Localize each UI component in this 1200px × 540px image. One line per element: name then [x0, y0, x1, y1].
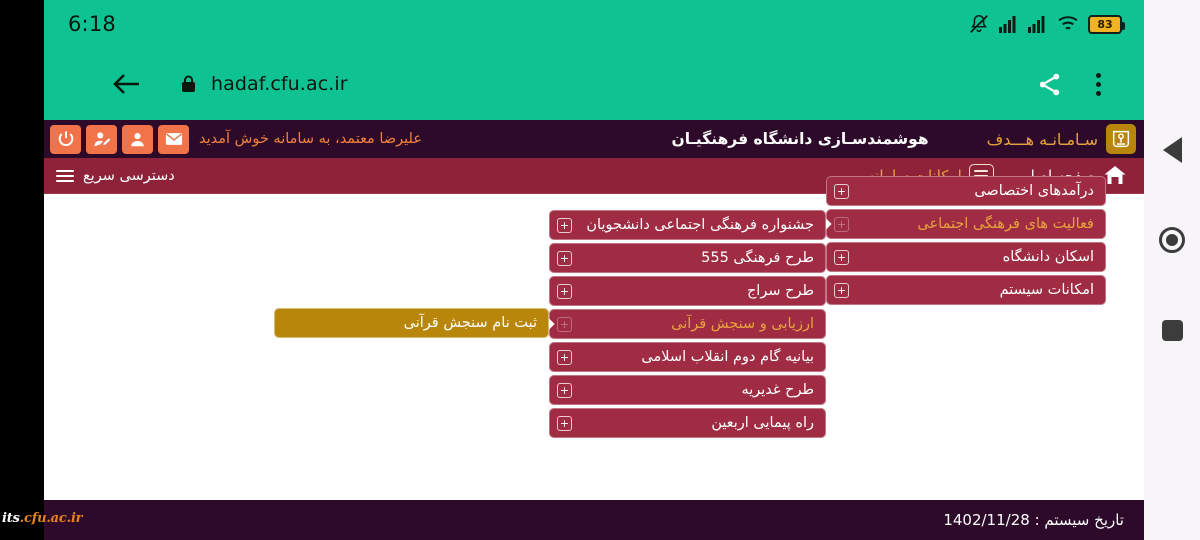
page-viewport: سـامـانـه هـــدف هوشمندسـازی دانشگاه فره…	[44, 120, 1144, 540]
battery-icon: 83	[1088, 15, 1122, 34]
menu-item[interactable]: بیانیه گام دوم انقلاب اسلامی +	[549, 342, 826, 372]
menu-item[interactable]: امکانات سیستم +	[826, 275, 1106, 305]
wifi-icon	[1057, 15, 1079, 33]
user-edit-icon[interactable]	[86, 125, 117, 154]
brand-identity: سـامـانـه هـــدف	[987, 124, 1144, 154]
expand-icon[interactable]: +	[557, 251, 572, 266]
expand-icon[interactable]: +	[557, 317, 572, 332]
share-button[interactable]	[1024, 71, 1074, 98]
menu-item[interactable]: ارزیابی و سنجش قرآنی +	[549, 309, 826, 339]
status-bar: 6:18	[44, 0, 1144, 48]
menu-item-label: اسکان دانشگاه	[849, 249, 1094, 265]
expand-icon[interactable]: +	[557, 383, 572, 398]
menu-item-label: طرح سراج	[572, 283, 814, 299]
more-vertical-icon	[1096, 73, 1101, 78]
expand-icon[interactable]: +	[834, 217, 849, 232]
cfu-logo-icon	[1106, 124, 1136, 154]
back-arrow-icon	[112, 71, 142, 97]
menu-item-label: طرح غدیریه	[572, 382, 814, 398]
left-bezel	[0, 0, 44, 540]
back-triangle-icon	[1163, 137, 1182, 163]
android-nav-bar	[1144, 0, 1200, 540]
menu-item-label: ارزیابی و سنجش قرآنی	[572, 316, 814, 332]
android-recents-button[interactable]	[1144, 285, 1200, 375]
menu-item-label: فعالیت های فرهنگی اجتماعی	[849, 216, 1094, 232]
menu-item[interactable]: اسکان دانشگاه +	[826, 242, 1106, 272]
site-brand-bar: سـامـانـه هـــدف هوشمندسـازی دانشگاه فره…	[44, 120, 1144, 158]
system-date: تاریخ سیستم : 1402/11/28	[943, 511, 1124, 529]
hamburger-icon	[56, 170, 74, 182]
expand-icon[interactable]: +	[557, 218, 572, 233]
menu-item[interactable]: فعالیت های فرهنگی اجتماعی +	[826, 209, 1106, 239]
menu-item[interactable]: درآمدهای اختصاصی +	[826, 176, 1106, 206]
battery-level: 83	[1097, 19, 1112, 30]
share-icon	[1036, 71, 1063, 98]
nav-quick-access[interactable]: دسترسی سریع	[44, 168, 175, 184]
menu-item[interactable]: طرح فرهنگی 555 +	[549, 243, 826, 273]
menu-item[interactable]: طرح غدیریه +	[549, 375, 826, 405]
phone-screen: 6:18	[0, 0, 1200, 540]
home-circle-icon	[1159, 227, 1185, 253]
menu-level-3: ثبت نام سنجش قرآنی	[274, 308, 549, 341]
url-bar[interactable]: hadaf.cfu.ac.ir	[211, 73, 348, 95]
user-action-buttons	[50, 125, 189, 154]
brand-headline: هوشمندسـازی دانشگاه فرهنگیـان	[672, 130, 929, 148]
expand-icon[interactable]: +	[834, 250, 849, 265]
signal-icon	[999, 15, 1019, 33]
browser-chrome: 6:18	[44, 0, 1144, 120]
expand-icon[interactable]: +	[557, 416, 572, 431]
expand-icon[interactable]: +	[557, 284, 572, 299]
power-icon[interactable]	[50, 125, 81, 154]
status-clock: 6:18	[68, 12, 116, 36]
watermark-suffix: .cfu.ac.ir	[20, 511, 83, 526]
mail-icon[interactable]	[158, 125, 189, 154]
welcome-message: علیرضا معتمد، به سامانه خوش آمدید	[199, 131, 422, 147]
menu-item-label: ثبت نام سنجش قرآنی	[282, 315, 537, 331]
menu-item[interactable]: جشنواره فرهنگی اجتماعی دانشجویان +	[549, 210, 826, 240]
status-icon-group: 83	[968, 13, 1122, 35]
menu-item[interactable]: طرح سراج +	[549, 276, 826, 306]
expand-icon[interactable]: +	[557, 350, 572, 365]
quick-access-label: دسترسی سریع	[83, 168, 175, 184]
menu-item-label: جشنواره فرهنگی اجتماعی دانشجویان	[572, 217, 814, 233]
bell-muted-icon	[968, 13, 990, 35]
menu-level-2: جشنواره فرهنگی اجتماعی دانشجویان + طرح ف…	[549, 210, 826, 441]
watermark: its.cfu.ac.ir	[2, 508, 94, 528]
menu-item-label: راه پیمایی اربعین	[572, 415, 814, 431]
user-icon[interactable]	[122, 125, 153, 154]
browser-menu-button[interactable]	[1074, 73, 1122, 96]
menu-item-label: طرح فرهنگی 555	[572, 250, 814, 266]
browser-back-button[interactable]	[104, 71, 150, 97]
menu-item-label: بیانیه گام دوم انقلاب اسلامی	[572, 349, 814, 365]
menu-level-1: درآمدهای اختصاصی + فعالیت های فرهنگی اجت…	[826, 176, 1106, 308]
signal-icon	[1028, 15, 1048, 33]
expand-icon[interactable]: +	[834, 184, 849, 199]
quick-access-button[interactable]: دسترسی سریع	[56, 168, 175, 184]
browser-toolbar: hadaf.cfu.ac.ir	[44, 48, 1144, 120]
android-back-button[interactable]	[1144, 105, 1200, 195]
menu-item[interactable]: راه پیمایی اربعین +	[549, 408, 826, 438]
recents-square-icon	[1162, 320, 1183, 341]
menu-item-quran-assessment-registration[interactable]: ثبت نام سنجش قرآنی	[274, 308, 549, 338]
lock-icon	[180, 74, 197, 94]
watermark-prefix: its	[2, 511, 20, 526]
brand-user-area: علیرضا معتمد، به سامانه خوش آمدید	[44, 125, 422, 154]
brand-name: سـامـانـه هـــدف	[987, 130, 1098, 149]
android-home-button[interactable]	[1144, 195, 1200, 285]
site-footer: تاریخ سیستم : 1402/11/28	[44, 500, 1144, 540]
menu-item-label: درآمدهای اختصاصی	[849, 183, 1094, 199]
expand-icon[interactable]: +	[834, 283, 849, 298]
menu-item-label: امکانات سیستم	[849, 282, 1094, 298]
